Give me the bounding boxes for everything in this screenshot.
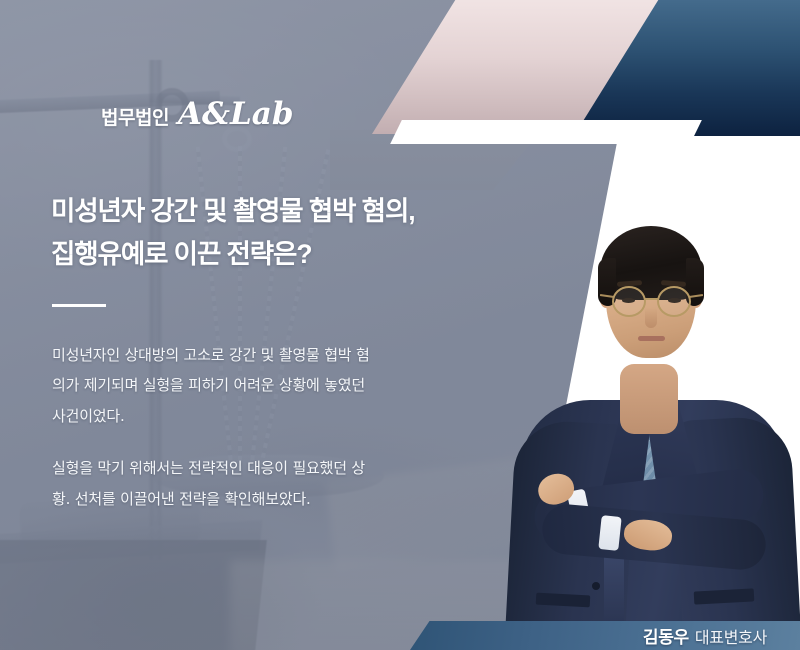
nose xyxy=(645,308,657,328)
page-title: 미성년자 강간 및 촬영물 협박 혐의, 집행유예로 이끈 전략은? xyxy=(51,190,521,276)
body-copy: 미성년자인 상대방의 고소로 강간 및 촬영물 협박 혐의가 제기되며 실형을 … xyxy=(52,340,382,514)
attorney-name: 김동우 xyxy=(643,623,689,648)
white-diagonal-divider xyxy=(390,120,702,144)
brand-prefix: 법무법인 xyxy=(101,103,169,130)
body-paragraph-2: 실형을 막기 위해서는 전략적인 대응이 필요했던 상황. 선처를 이끌어낸 전… xyxy=(52,453,382,514)
attorney-title: 대표변호사 xyxy=(695,624,767,648)
eyeglasses-lens-right xyxy=(657,286,691,317)
suit-button xyxy=(592,582,600,590)
headline-line-2: 집행유예로 이끈 전략은? xyxy=(51,233,521,276)
mouth xyxy=(638,336,665,341)
body-paragraph-1: 미성년자인 상대방의 고소로 강간 및 촬영물 협박 혐의가 제기되며 실형을 … xyxy=(52,340,382,431)
legal-promo-card: 법무법인 A&Lab 미성년자 강간 및 촬영물 협박 혐의, 집행유예로 이끈… xyxy=(0,0,800,650)
headline-line-1: 미성년자 강간 및 촬영물 협박 혐의, xyxy=(51,196,415,226)
brand-logo[interactable]: 법무법인 A&Lab xyxy=(101,96,294,132)
eyeglasses-lens-left xyxy=(612,286,646,317)
attribution-bar: 김동우 대표변호사 xyxy=(410,621,800,650)
attorney-portrait xyxy=(496,150,800,650)
title-divider-rule xyxy=(52,304,106,307)
neck xyxy=(620,364,678,434)
shirt-cuff-right xyxy=(598,515,621,551)
brand-name: A&Lab xyxy=(178,96,294,132)
eyeglasses-bridge xyxy=(645,298,658,300)
